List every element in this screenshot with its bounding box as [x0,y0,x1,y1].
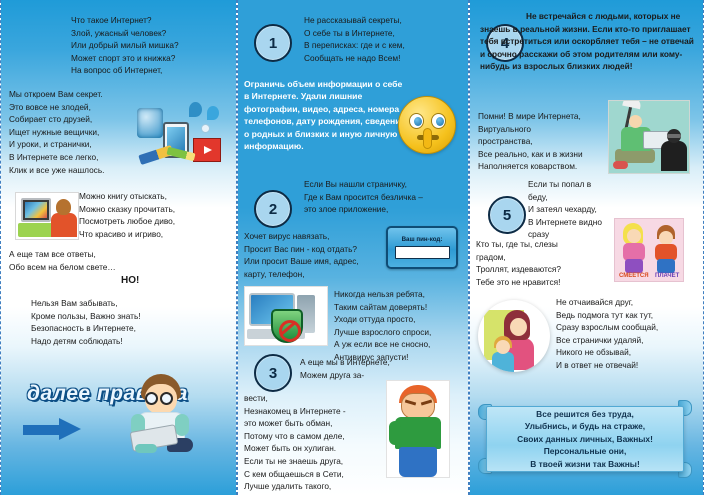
girl-at-computer-image [15,192,79,240]
droplet-icon [207,106,219,120]
mother-and-child-image [478,300,550,372]
computer-with-antivirus-shield [244,286,328,346]
left-answers-poem: А еще там все ответы, Обо всем на белом … [9,248,116,273]
rule-2-extra: Никогда нельзя ребята, Таким сайтам дове… [334,288,431,364]
laughing-and-crying-kids-image: СМЕЕТСЯ ПЛАЧЕТ [614,218,684,282]
rule-2-poem: Если Вы нашли страничку, Где к Вам проси… [304,178,423,216]
rule-2-advice: Хочет вирус навязать, Просит Вас пин - к… [244,230,359,280]
brochure-page: Что такое Интернет? Злой, ужасный челове… [0,0,704,495]
caption-crying: ПЛАЧЕТ [655,273,679,279]
pin-code-label: Ваш пин-код: [402,236,443,243]
shield-icon [271,309,303,343]
glasses-icon [160,392,173,405]
left-book-poem: Можно книгу отыскать, Можно сказку прочи… [79,190,175,240]
boy-with-laptop-image [121,372,197,454]
devices-collage-image [133,100,229,178]
rule-3-poem: А еще мы в Интернете, Можем друга за- [300,356,390,381]
rule-number-badge-1: 1 [254,24,292,62]
angry-bully-boy-image [386,380,450,478]
rule-number-badge-5: 5 [488,196,526,234]
scroll-text: Все решится без труда, Улыбнись, и будь … [517,408,653,470]
sticky-note-icon [201,124,210,133]
rule-4-text: Не встречайся с людьми, которых не знаеш… [478,10,698,73]
rule-1-advice: Ограничь объем информации о себе в Интер… [244,78,406,152]
right-final-poem: Не отчаивайся друг, Ведь подмога тут как… [556,296,658,372]
pin-code-input[interactable] [395,246,450,259]
rule-3-advice: вести, Незнакомец в Интернете - это може… [244,392,346,493]
rule-1-poem: Не рассказывай секреты, О себе ты в Инте… [304,14,405,64]
arrow-right-icon [23,418,83,440]
left-heading-poem: Что такое Интернет? Злой, ужасный челове… [71,14,179,77]
rule-5-poem: Если ты попал в беду, И затеял чехарду, … [528,178,602,241]
rule-5-advice: Кто ты, где ты, слезы градом, Троллят, и… [476,238,561,288]
left-rules-poem: Нельзя Вам забывать, Кроме пользы, Важно… [31,297,141,347]
scroll-banner: Все решится без труда, Улыбнись, и будь … [476,398,694,482]
left-secret-poem: Мы откроем Вам секрет. Это вовсе не злод… [9,88,104,176]
droplet-icon [189,102,202,117]
panel-middle: 1 Не рассказывай секреты, О себе ты в Ин… [237,0,469,495]
no-emphasis-word: НО! [121,275,139,286]
presentation-board-icon [193,138,221,162]
rule-number-badge-3: 3 [254,354,292,392]
pencil-icon [166,147,195,162]
hacker-behind-user-image [608,100,690,174]
shushing-face-emoji [398,96,456,154]
globe-icon [137,108,163,138]
rule-number-badge-2: 2 [254,190,292,228]
rule-4-remember: Помни! В мире Интернета, Виртуального пр… [478,110,583,173]
panel-right: 4 Не встречайся с людьми, которых не зна… [469,0,704,495]
panel-left: Что такое Интернет? Злой, ужасный челове… [0,0,237,495]
scroll-body: Все решится без труда, Улыбнись, и будь … [486,406,684,472]
caption-laughing: СМЕЕТСЯ [619,273,649,279]
pin-code-dialog[interactable]: Ваш пин-код: [386,226,458,269]
sunglasses-icon [667,134,681,138]
glasses-icon [145,392,158,405]
